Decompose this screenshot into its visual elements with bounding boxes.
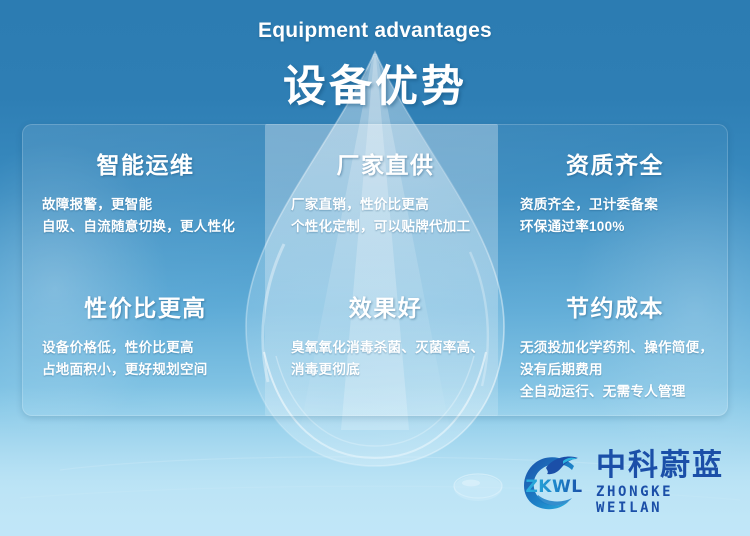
feature-title-6: 节约成本: [516, 289, 714, 323]
feature-line: 无须投加化学药剂、操作简便，: [520, 337, 714, 359]
header-english-title: Equipment advantages: [0, 19, 750, 43]
features-grid: 智能运维 故障报警，更智能 自吸、自流随意切换，更人性化 厂家直供 厂家直销，性…: [22, 124, 728, 416]
feature-line: 故障报警，更智能: [42, 194, 251, 216]
feature-line: 个性化定制，可以贴牌代加工: [291, 216, 484, 238]
feature-title-5: 效果好: [287, 289, 484, 323]
poster-canvas: Equipment advantages 设备优势 智能运维 故障报警，更智能 …: [0, 0, 750, 536]
logo-company-cn: 中科蔚蓝: [596, 450, 734, 482]
svg-text:ZKWL: ZKWL: [525, 477, 582, 497]
feature-line: 环保通过率100%: [520, 216, 714, 238]
feature-cell-5: 效果好 臭氧氧化消毒杀菌、灭菌率高、 消毒更彻底: [265, 269, 498, 416]
feature-cell-3: 资质齐全 资质齐全，卫计委备案 环保通过率100%: [498, 124, 728, 269]
poster-header: Equipment advantages 设备优势: [0, 0, 750, 114]
feature-lines-4: 设备价格低，性价比更高 占地面积小，更好规划空间: [42, 337, 251, 381]
feature-line: 全自动运行、无需专人管理: [520, 381, 714, 403]
feature-title-4: 性价比更高: [40, 289, 251, 323]
feature-line: 资质齐全，卫计委备案: [520, 194, 714, 216]
feature-line: 消毒更彻底: [291, 359, 484, 381]
feature-title-2: 厂家直供: [287, 146, 484, 180]
feature-title-3: 资质齐全: [516, 146, 714, 180]
feature-line: 占地面积小，更好规划空间: [42, 359, 251, 381]
logo-company-en: ZHONGKE WEILAN: [596, 484, 734, 516]
feature-line: 没有后期费用: [520, 359, 714, 381]
feature-cell-1: 智能运维 故障报警，更智能 自吸、自流随意切换，更人性化: [22, 124, 265, 269]
feature-lines-6: 无须投加化学药剂、操作简便， 没有后期费用 全自动运行、无需专人管理: [520, 337, 714, 403]
feature-cell-2: 厂家直供 厂家直销，性价比更高 个性化定制，可以贴牌代加工: [265, 124, 498, 269]
feature-cell-4: 性价比更高 设备价格低，性价比更高 占地面积小，更好规划空间: [22, 269, 265, 416]
logo-text-block: 中科蔚蓝 ZHONGKE WEILAN: [596, 450, 734, 516]
feature-lines-1: 故障报警，更智能 自吸、自流随意切换，更人性化: [42, 194, 251, 238]
dolphin-circle-logo-icon: ZKWL: [516, 452, 594, 514]
feature-lines-2: 厂家直销，性价比更高 个性化定制，可以贴牌代加工: [291, 194, 484, 238]
feature-line: 自吸、自流随意切换，更人性化: [42, 216, 251, 238]
feature-line: 臭氧氧化消毒杀菌、灭菌率高、: [291, 337, 484, 359]
feature-cell-6: 节约成本 无须投加化学药剂、操作简便， 没有后期费用 全自动运行、无需专人管理: [498, 269, 728, 416]
feature-lines-3: 资质齐全，卫计委备案 环保通过率100%: [520, 194, 714, 238]
feature-title-1: 智能运维: [40, 146, 251, 180]
header-chinese-title: 设备优势: [0, 52, 750, 114]
brand-logo: ZKWL 中科蔚蓝 ZHONGKE WEILAN: [516, 448, 734, 518]
feature-line: 厂家直销，性价比更高: [291, 194, 484, 216]
feature-line: 设备价格低，性价比更高: [42, 337, 251, 359]
feature-lines-5: 臭氧氧化消毒杀菌、灭菌率高、 消毒更彻底: [291, 337, 484, 381]
